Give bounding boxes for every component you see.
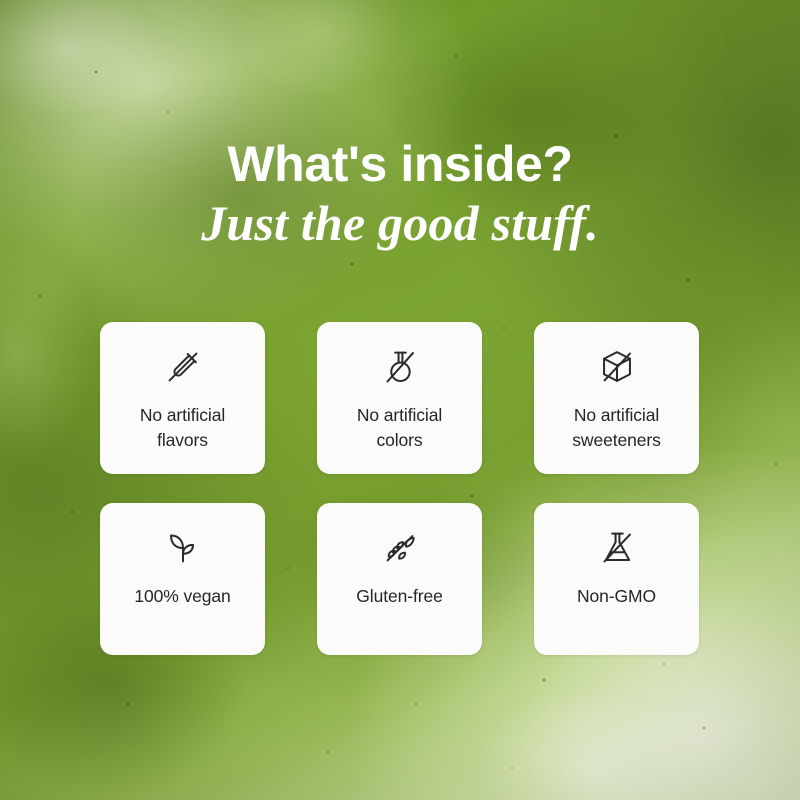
claim-label: No artificial sweeteners xyxy=(564,403,669,453)
claim-card-100-percent-vegan: 100% vegan xyxy=(100,503,265,655)
claim-card-no-artificial-sweeteners: No artificial sweeteners xyxy=(534,322,699,474)
headline-question: What's inside? xyxy=(0,135,800,193)
conical-flask-slash-icon xyxy=(594,525,640,571)
claim-card-no-artificial-flavors: No artificial flavors xyxy=(100,322,265,474)
claim-label: Gluten-free xyxy=(348,584,450,609)
claim-label: Non-GMO xyxy=(569,584,664,609)
wheat-slash-icon xyxy=(377,525,423,571)
sprout-icon xyxy=(160,525,206,571)
claims-grid: No artificial flavors No artificial colo… xyxy=(100,322,700,655)
claim-card-non-gmo: Non-GMO xyxy=(534,503,699,655)
poster-content: What's inside? Just the good stuff. No a… xyxy=(0,0,800,800)
headline-block: What's inside? Just the good stuff. xyxy=(0,135,800,251)
product-claims-poster: What's inside? Just the good stuff. No a… xyxy=(0,0,800,800)
claim-label: No artificial flavors xyxy=(132,403,233,453)
sugar-cube-slash-icon xyxy=(594,344,640,390)
claim-label: No artificial colors xyxy=(349,403,450,453)
test-tube-slash-icon xyxy=(160,344,206,390)
headline-answer: Just the good stuff. xyxy=(0,195,800,251)
claim-card-no-artificial-colors: No artificial colors xyxy=(317,322,482,474)
claim-label: 100% vegan xyxy=(126,584,238,609)
claim-card-gluten-free: Gluten-free xyxy=(317,503,482,655)
round-flask-slash-icon xyxy=(377,344,423,390)
